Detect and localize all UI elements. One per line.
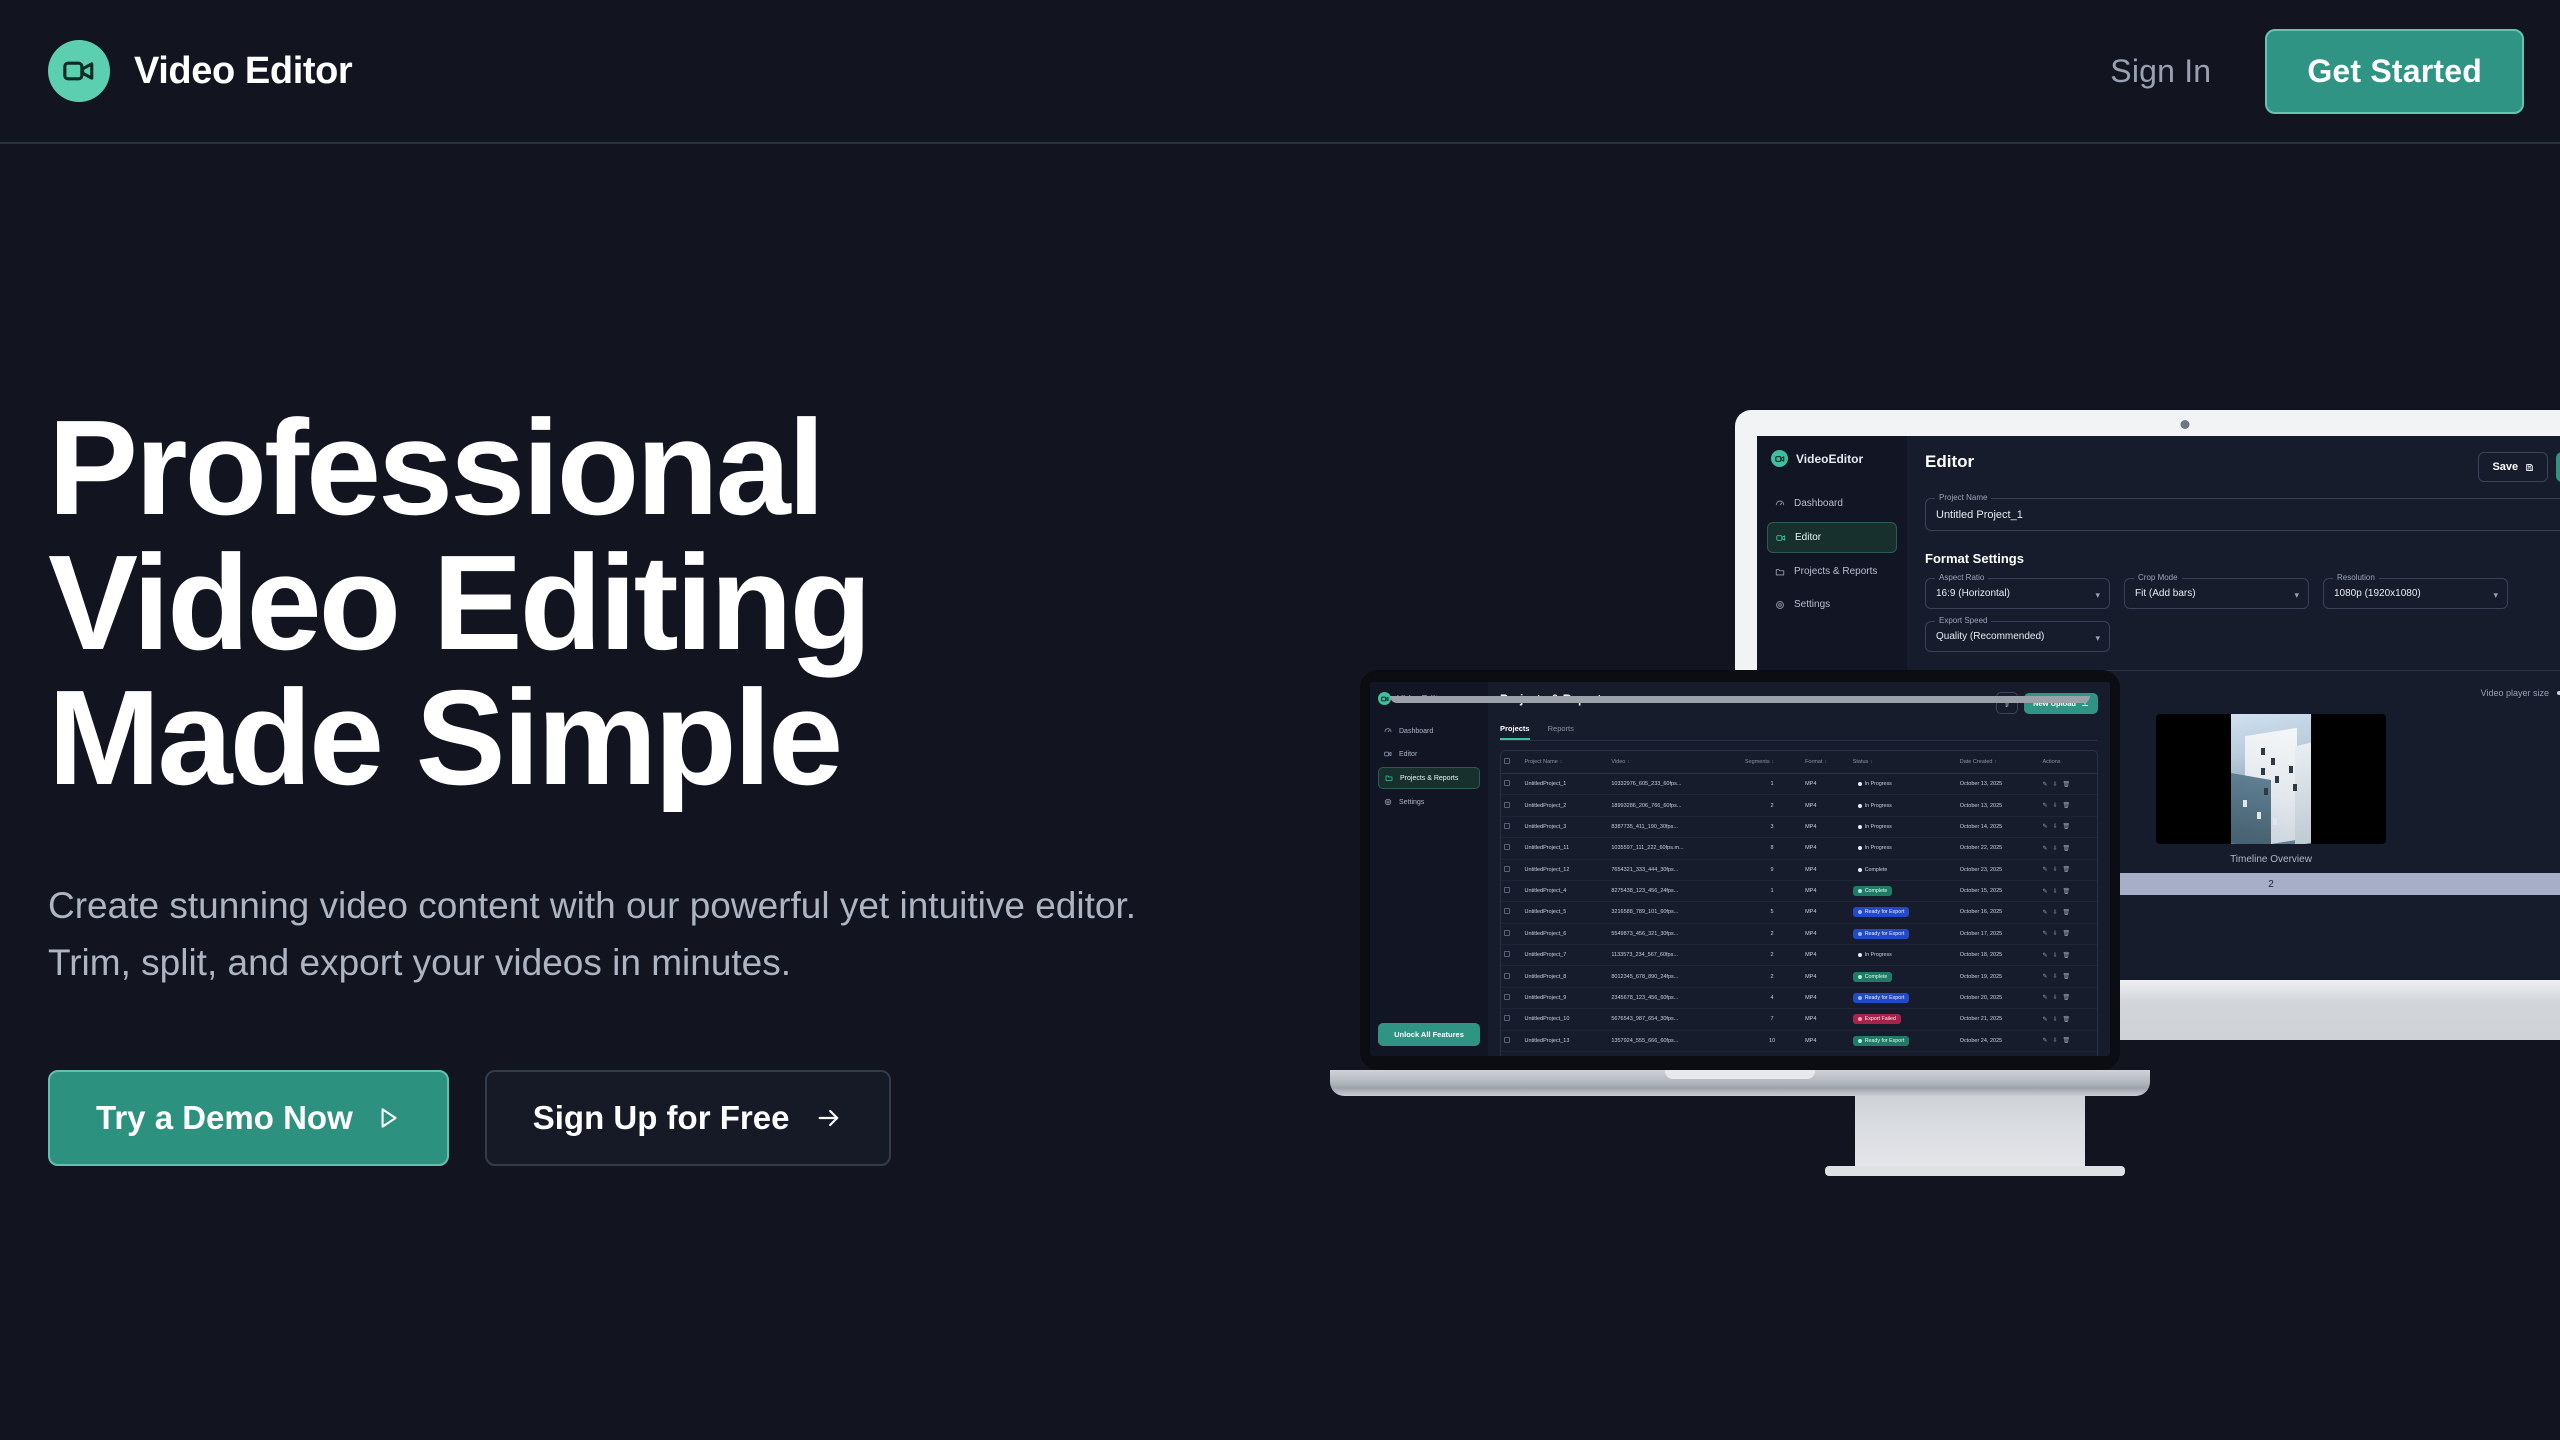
- floppy-disk-icon: [2525, 463, 2534, 472]
- row-checkbox[interactable]: [1501, 859, 1521, 880]
- cell-video: 8275438_123_456_24fps...: [1608, 880, 1742, 901]
- row-actions[interactable]: ✎⇩🗑: [2039, 880, 2097, 901]
- sidebar-item-settings[interactable]: Settings: [1767, 590, 1897, 619]
- download-icon[interactable]: ⇩: [2053, 888, 2058, 895]
- sidebar-label: Editor: [1399, 751, 1417, 758]
- col-date-created[interactable]: Date Created↕: [1957, 751, 2040, 774]
- cell-project-name: UntitledProject_2: [1521, 795, 1608, 816]
- editor-page-title: Editor: [1925, 452, 1974, 472]
- cell-video: 5676543_987_654_30fps...: [1608, 1009, 1742, 1030]
- cell-date-created: October 14, 2025: [1957, 816, 2040, 837]
- table-row[interactable]: UntitledProject_142468135_777_888_24fps.…: [1501, 1051, 2097, 1056]
- chevron-down-icon: ▾: [2493, 590, 2498, 601]
- edit-icon[interactable]: ✎: [2042, 1016, 2047, 1023]
- cell-video: 7654321_333_444_30fps...: [1608, 859, 1742, 880]
- status-badge: Ready for Export: [1850, 923, 1957, 944]
- cell-segments: 2: [1742, 795, 1802, 816]
- sidebar-item-projects-reports[interactable]: Projects & Reports: [1378, 767, 1480, 789]
- cell-video: 8012345_678_890_24fps...: [1608, 966, 1742, 987]
- download-icon[interactable]: ⇩: [2053, 973, 2058, 980]
- crop-mode-value: Fit (Add bars): [2135, 588, 2196, 599]
- row-checkbox[interactable]: [1501, 1009, 1521, 1030]
- delete-icon[interactable]: 🗑: [2063, 994, 2071, 1001]
- row-checkbox[interactable]: [1501, 923, 1521, 944]
- edit-icon[interactable]: ✎: [2042, 952, 2047, 959]
- export-button[interactable]: Export: [2556, 452, 2560, 482]
- download-icon[interactable]: ⇩: [2053, 994, 2058, 1001]
- project-name-field[interactable]: Project Name Untitled Project_1: [1925, 498, 2560, 531]
- row-checkbox[interactable]: [1501, 987, 1521, 1008]
- row-checkbox[interactable]: [1501, 1051, 1521, 1056]
- row-actions[interactable]: ✎⇩🗑: [2039, 795, 2097, 816]
- cell-format: MP4: [1802, 1009, 1850, 1030]
- format-settings-row-2: Export Speed Quality (Recommended) ▾: [1925, 621, 2560, 652]
- cell-date-created: October 18, 2025: [1957, 945, 2040, 966]
- save-label: Save: [2492, 461, 2518, 473]
- chevron-down-icon: ▾: [2095, 590, 2100, 601]
- cell-format: MP4: [1802, 838, 1850, 859]
- folder-icon: [1385, 774, 1393, 782]
- cell-date-created: October 25, 2025: [1957, 1051, 2040, 1056]
- status-badge: In Progress: [1850, 838, 1957, 859]
- row-actions[interactable]: ✎⇩🗑: [2039, 774, 2097, 795]
- video-camera-icon: [1771, 450, 1788, 467]
- cell-segments: 1: [1742, 774, 1802, 795]
- delete-icon[interactable]: 🗑: [2063, 909, 2071, 916]
- resolution-value: 1080p (1920x1080): [2334, 588, 2421, 599]
- table-row[interactable]: UntitledProject_71133573_234_567_60fps..…: [1501, 945, 2097, 966]
- cell-segments: 1: [1742, 880, 1802, 901]
- cell-project-name: UntitledProject_10: [1521, 1009, 1608, 1030]
- row-actions[interactable]: ✎⇩🗑: [2039, 816, 2097, 837]
- cell-format: MP4: [1802, 816, 1850, 837]
- col-video[interactable]: Video↕: [1608, 751, 1742, 774]
- brand-name: Video Editor: [134, 50, 352, 93]
- status-badge: In Progress: [1850, 945, 1957, 966]
- delete-icon[interactable]: 🗑: [2063, 930, 2071, 937]
- tab-projects[interactable]: Projects: [1500, 724, 1530, 740]
- row-checkbox[interactable]: [1501, 880, 1521, 901]
- sidebar-item-dashboard[interactable]: Dashboard: [1767, 489, 1897, 518]
- status-badge: Ready for Export: [1850, 987, 1957, 1008]
- folder-icon: [1775, 567, 1785, 577]
- cell-segments: 3: [1742, 816, 1802, 837]
- edit-icon[interactable]: ✎: [2042, 866, 2047, 873]
- laptop-mockup: VideoEditor Dashboard Editor: [1330, 670, 2150, 1140]
- chevron-down-icon: ▾: [2095, 633, 2100, 644]
- col-select-all[interactable]: [1501, 751, 1521, 774]
- status-badge: In Progress: [1850, 795, 1957, 816]
- resolution-label: Resolution: [2333, 573, 2379, 582]
- status-badge: Complete: [1850, 966, 1957, 987]
- row-checkbox[interactable]: [1501, 774, 1521, 795]
- cell-segments: 9: [1742, 859, 1802, 880]
- project-name-value: Untitled Project_1: [1936, 509, 2023, 521]
- edit-icon[interactable]: ✎: [2042, 781, 2047, 788]
- cell-format: MP4: [1802, 987, 1850, 1008]
- status-badge: In Progress: [1850, 816, 1957, 837]
- cell-video: 8387735_411_190_30fps...: [1608, 816, 1742, 837]
- gauge-icon: [1775, 499, 1785, 509]
- cell-video: 1035597_111_222_60fps.m...: [1608, 838, 1742, 859]
- editor-nav: Dashboard Editor Projects & Reports: [1767, 489, 1897, 619]
- save-button[interactable]: Save: [2478, 452, 2548, 482]
- cell-video: 10332976_605_233_60fps...: [1608, 774, 1742, 795]
- sidebar-label: Projects & Reports: [1400, 775, 1458, 782]
- status-badge: Complete: [1850, 859, 1957, 880]
- table-row[interactable]: UntitledProject_131357924_555_666_60fps.…: [1501, 1030, 2097, 1051]
- delete-icon[interactable]: 🗑: [2063, 866, 2071, 873]
- hero-title-line-3: Made Simple: [48, 670, 1178, 805]
- download-icon[interactable]: ⇩: [2053, 930, 2058, 937]
- gear-icon: [1384, 798, 1392, 806]
- table-row[interactable]: UntitledProject_88012345_678_890_24fps..…: [1501, 966, 2097, 987]
- crop-mode-label: Crop Mode: [2134, 573, 2182, 582]
- cell-video: 1357924_555_666_60fps...: [1608, 1030, 1742, 1051]
- cell-project-name: UntitledProject_13: [1521, 1030, 1608, 1051]
- cell-format: MP4: [1802, 1051, 1850, 1056]
- sidebar-item-editor[interactable]: Editor: [1767, 522, 1897, 553]
- projects-nav: Dashboard Editor Projects & Reports: [1378, 721, 1480, 812]
- video-player-size-label: Video player size: [2481, 688, 2549, 698]
- cell-format: MP4: [1802, 923, 1850, 944]
- delete-icon[interactable]: 🗑: [2063, 1016, 2071, 1023]
- projects-sidebar: VideoEditor Dashboard Editor: [1370, 682, 1488, 1056]
- laptop-base: [1330, 1070, 2150, 1096]
- cell-date-created: October 24, 2025: [1957, 1030, 2040, 1051]
- sidebar-label: Projects & Reports: [1794, 566, 1877, 577]
- sidebar-item-projects-reports[interactable]: Projects & Reports: [1767, 557, 1897, 586]
- header-actions: Sign In Get Started: [2110, 29, 2524, 114]
- hero-section: Professional Video Editing Made Simple C…: [48, 400, 1178, 1166]
- editor-brand-label: VideoEditor: [1796, 452, 1863, 466]
- get-started-button[interactable]: Get Started: [2265, 29, 2524, 114]
- brand[interactable]: Video Editor: [48, 40, 352, 102]
- row-actions[interactable]: ✎⇩🗑: [2039, 859, 2097, 880]
- gauge-icon: [1384, 727, 1392, 735]
- sidebar-label: Editor: [1795, 532, 1821, 543]
- cell-project-name: UntitledProject_9: [1521, 987, 1608, 1008]
- cell-format: MP4: [1802, 774, 1850, 795]
- sidebar-item-dashboard[interactable]: Dashboard: [1378, 721, 1480, 741]
- video-camera-icon: [1378, 692, 1391, 705]
- delete-icon[interactable]: 🗑: [2063, 845, 2071, 852]
- col-segments[interactable]: Segments↕: [1742, 751, 1802, 774]
- video-player-size-control[interactable]: Video player size: [2481, 688, 2560, 698]
- cell-project-name: UntitledProject_1: [1521, 774, 1608, 795]
- hero-cta-group: Try a Demo Now Sign Up for Free: [48, 1070, 1178, 1166]
- download-icon[interactable]: ⇩: [2053, 909, 2058, 916]
- col-actions: Actions: [2039, 751, 2097, 774]
- editor-header-actions: Save Export: [2478, 452, 2560, 482]
- cell-project-name: UntitledProject_11: [1521, 838, 1608, 859]
- cell-segments: 5: [1742, 902, 1802, 923]
- projects-app: VideoEditor Dashboard Editor: [1370, 682, 2110, 1056]
- cell-format: MP4: [1802, 859, 1850, 880]
- row-checkbox[interactable]: [1501, 1030, 1521, 1051]
- status-badge: Complete: [1850, 880, 1957, 901]
- col-status[interactable]: Status↕: [1850, 751, 1957, 774]
- sidebar-label: Settings: [1794, 599, 1830, 610]
- delete-icon[interactable]: 🗑: [2063, 952, 2071, 959]
- laptop-lid: VideoEditor Dashboard Editor: [1360, 670, 2120, 1070]
- download-icon[interactable]: ⇩: [2053, 1037, 2058, 1044]
- cell-project-name: UntitledProject_8: [1521, 966, 1608, 987]
- hero-title-line-1: Professional: [48, 400, 1178, 535]
- product-mockup-scene: VideoEditor Dashboard Editor: [1330, 380, 2560, 1200]
- cell-segments: 11: [1742, 1051, 1802, 1056]
- delete-icon[interactable]: 🗑: [2063, 1037, 2071, 1044]
- cell-date-created: October 22, 2025: [1957, 838, 2040, 859]
- cell-project-name: UntitledProject_14: [1521, 1051, 1608, 1056]
- laptop-notch: [1685, 673, 1795, 682]
- projects-tabs: Projects Reports: [1500, 724, 2098, 741]
- status-badge: In Progress: [1850, 774, 1957, 795]
- col-format[interactable]: Format↕: [1802, 751, 1850, 774]
- table-row[interactable]: UntitledProject_38387735_411_190_30fps..…: [1501, 816, 2097, 837]
- cell-format: MP4: [1802, 902, 1850, 923]
- aspect-ratio-select[interactable]: Aspect Ratio 16:9 (Horizontal) ▾: [1925, 578, 2110, 609]
- edit-icon[interactable]: ✎: [2042, 802, 2047, 809]
- hero-subtitle: Create stunning video content with our p…: [48, 877, 1138, 992]
- cell-date-created: October 19, 2025: [1957, 966, 2040, 987]
- table-row[interactable]: UntitledProject_65549873_456_321_30fps..…: [1501, 923, 2097, 944]
- video-camera-icon: [48, 40, 110, 102]
- unlock-all-features-button[interactable]: Unlock All Features: [1378, 1023, 1480, 1046]
- delete-icon[interactable]: 🗑: [2063, 973, 2071, 980]
- row-actions[interactable]: ✎⇩🗑: [2039, 987, 2097, 1008]
- editor-brand: VideoEditor: [1767, 450, 1897, 467]
- edit-icon[interactable]: ✎: [2042, 909, 2047, 916]
- download-icon[interactable]: ⇩: [2053, 952, 2058, 959]
- play-triangle-icon: [375, 1105, 401, 1131]
- sidebar-label: Dashboard: [1794, 498, 1843, 509]
- laptop-foot: [1390, 696, 2090, 703]
- row-actions[interactable]: ✎⇩🗑: [2039, 966, 2097, 987]
- cell-video: 1133573_234_567_60fps...: [1608, 945, 1742, 966]
- landing-page: Video Editor Sign In Get Started Profess…: [0, 0, 2560, 1440]
- sign-in-link[interactable]: Sign In: [2110, 53, 2211, 90]
- edit-icon[interactable]: ✎: [2042, 845, 2047, 852]
- video-camera-icon: [1776, 533, 1786, 543]
- col-project-name[interactable]: Project Name↕: [1521, 751, 1608, 774]
- row-checkbox[interactable]: [1501, 838, 1521, 859]
- download-icon[interactable]: ⇩: [2053, 823, 2058, 830]
- cell-segments: 2: [1742, 923, 1802, 944]
- row-actions[interactable]: ✎⇩🗑: [2039, 838, 2097, 859]
- editor-header: Editor Save Export: [1925, 452, 2560, 482]
- cell-segments: 8: [1742, 838, 1802, 859]
- status-badge: Export Failed: [1850, 1009, 1957, 1030]
- row-actions[interactable]: ✎⇩🗑: [2039, 1009, 2097, 1030]
- aspect-ratio-value: 16:9 (Horizontal): [1936, 588, 2010, 599]
- crop-mode-select[interactable]: Crop Mode Fit (Add bars) ▾: [2124, 578, 2309, 609]
- edit-icon[interactable]: ✎: [2042, 1037, 2047, 1044]
- delete-icon[interactable]: 🗑: [2063, 823, 2071, 830]
- cell-format: MP4: [1802, 795, 1850, 816]
- cell-project-name: UntitledProject_6: [1521, 923, 1608, 944]
- delete-icon[interactable]: 🗑: [2063, 802, 2071, 809]
- cell-project-name: UntitledProject_12: [1521, 859, 1608, 880]
- row-checkbox[interactable]: [1501, 966, 1521, 987]
- cell-date-created: October 13, 2025: [1957, 774, 2040, 795]
- cell-video: 18993286_206_766_60fps...: [1608, 795, 1742, 816]
- cell-project-name: UntitledProject_3: [1521, 816, 1608, 837]
- cell-format: MP4: [1802, 1030, 1850, 1051]
- laptop-trackpad-notch: [1665, 1070, 1815, 1079]
- page-title: Professional Video Editing Made Simple: [48, 400, 1178, 805]
- row-actions[interactable]: ✎⇩🗑: [2039, 923, 2097, 944]
- aspect-ratio-label: Aspect Ratio: [1935, 573, 1988, 582]
- edit-icon[interactable]: ✎: [2042, 823, 2047, 830]
- cell-project-name: UntitledProject_4: [1521, 880, 1608, 901]
- download-icon[interactable]: ⇩: [2053, 866, 2058, 873]
- cell-video: 2345678_123_456_60fps...: [1608, 987, 1742, 1008]
- video-camera-icon: [1384, 750, 1392, 758]
- row-actions[interactable]: ✎⇩🗑: [2039, 1051, 2097, 1056]
- cell-video: 5549873_456_321_30fps...: [1608, 923, 1742, 944]
- table-body: UntitledProject_110332976_605_233_60fps.…: [1501, 774, 2097, 1057]
- export-speed-select[interactable]: Export Speed Quality (Recommended) ▾: [1925, 621, 2110, 652]
- download-icon[interactable]: ⇩: [2053, 1016, 2058, 1023]
- monitor-foot: [1825, 1166, 2125, 1176]
- try-demo-label: Try a Demo Now: [96, 1099, 353, 1137]
- row-checkbox[interactable]: [1501, 816, 1521, 837]
- table-row[interactable]: UntitledProject_105676543_987_654_30fps.…: [1501, 1009, 2097, 1030]
- cell-segments: 10: [1742, 1030, 1802, 1051]
- video-frame-image: [2231, 714, 2311, 844]
- project-name-label: Project Name: [1935, 493, 1991, 502]
- sidebar-item-editor[interactable]: Editor: [1378, 744, 1480, 764]
- cell-date-created: October 23, 2025: [1957, 859, 2040, 880]
- cell-segments: 2: [1742, 966, 1802, 987]
- site-header: Video Editor Sign In Get Started: [0, 0, 2560, 144]
- delete-icon[interactable]: 🗑: [2063, 781, 2071, 788]
- sign-up-button[interactable]: Sign Up for Free: [485, 1070, 892, 1166]
- table-row[interactable]: UntitledProject_110332976_605_233_60fps.…: [1501, 774, 2097, 795]
- cell-date-created: October 13, 2025: [1957, 795, 2040, 816]
- table-row[interactable]: UntitledProject_111035597_111_222_60fps.…: [1501, 838, 2097, 859]
- export-speed-value: Quality (Recommended): [1936, 631, 2044, 642]
- tab-reports[interactable]: Reports: [1548, 724, 1574, 740]
- arrow-right-icon: [815, 1104, 843, 1132]
- table-row[interactable]: UntitledProject_53216588_789_101_60fps..…: [1501, 902, 2097, 923]
- format-settings-title: Format Settings: [1925, 551, 2560, 566]
- projects-main: Projects & Reports New Upload: [1488, 682, 2110, 1056]
- cell-date-created: October 17, 2025: [1957, 923, 2040, 944]
- try-demo-button[interactable]: Try a Demo Now: [48, 1070, 449, 1166]
- cell-date-created: October 15, 2025: [1957, 880, 2040, 901]
- table-header-row: Project Name↕ Video↕ Segments↕ Format↕ S…: [1501, 751, 2097, 774]
- row-checkbox[interactable]: [1501, 945, 1521, 966]
- status-badge: In Progress: [1850, 1051, 1957, 1056]
- cell-format: MP4: [1802, 880, 1850, 901]
- edit-icon[interactable]: ✎: [2042, 994, 2047, 1001]
- row-actions[interactable]: ✎⇩🗑: [2039, 945, 2097, 966]
- delete-icon[interactable]: 🗑: [2063, 888, 2071, 895]
- edit-icon[interactable]: ✎: [2042, 888, 2047, 895]
- sign-up-label: Sign Up for Free: [533, 1099, 790, 1137]
- video-player[interactable]: [2156, 714, 2386, 844]
- status-badge: Ready for Export: [1850, 1030, 1957, 1051]
- cell-segments: 4: [1742, 987, 1802, 1008]
- chevron-down-icon: ▾: [2294, 590, 2299, 601]
- row-checkbox[interactable]: [1501, 795, 1521, 816]
- cell-format: MP4: [1802, 966, 1850, 987]
- table-row[interactable]: UntitledProject_48275438_123_456_24fps..…: [1501, 880, 2097, 901]
- sidebar-item-settings[interactable]: Settings: [1378, 792, 1480, 812]
- cell-segments: 2: [1742, 945, 1802, 966]
- format-settings-row-1: Aspect Ratio 16:9 (Horizontal) ▾ Crop Mo…: [1925, 578, 2560, 609]
- cell-video: 2468135_777_888_24fps...: [1608, 1051, 1742, 1056]
- cell-format: MP4: [1802, 945, 1850, 966]
- download-icon[interactable]: ⇩: [2053, 845, 2058, 852]
- cell-segments: 7: [1742, 1009, 1802, 1030]
- export-speed-label: Export Speed: [1935, 616, 1991, 625]
- download-icon[interactable]: ⇩: [2053, 781, 2058, 788]
- table-row[interactable]: UntitledProject_127654321_333_444_30fps.…: [1501, 859, 2097, 880]
- cell-date-created: October 21, 2025: [1957, 1009, 2040, 1030]
- projects-table: Project Name↕ Video↕ Segments↕ Format↕ S…: [1500, 750, 2098, 1056]
- cell-project-name: UntitledProject_7: [1521, 945, 1608, 966]
- cell-project-name: UntitledProject_5: [1521, 902, 1608, 923]
- table-row[interactable]: UntitledProject_218993286_206_766_60fps.…: [1501, 795, 2097, 816]
- edit-icon[interactable]: ✎: [2042, 973, 2047, 980]
- resolution-select[interactable]: Resolution 1080p (1920x1080) ▾: [2323, 578, 2508, 609]
- webcam-icon: [2181, 420, 2190, 429]
- cell-date-created: October 16, 2025: [1957, 902, 2040, 923]
- edit-icon[interactable]: ✎: [2042, 930, 2047, 937]
- cell-date-created: October 20, 2025: [1957, 987, 2040, 1008]
- gear-icon: [1775, 600, 1785, 610]
- laptop-screen: VideoEditor Dashboard Editor: [1370, 682, 2110, 1056]
- row-actions[interactable]: ✎⇩🗑: [2039, 1030, 2097, 1051]
- row-actions[interactable]: ✎⇩🗑: [2039, 902, 2097, 923]
- table-row[interactable]: UntitledProject_92345678_123_456_60fps..…: [1501, 987, 2097, 1008]
- hero-title-line-2: Video Editing: [48, 535, 1178, 670]
- status-badge: Ready for Export: [1850, 902, 1957, 923]
- download-icon[interactable]: ⇩: [2053, 802, 2058, 809]
- cell-video: 3216588_789_101_60fps...: [1608, 902, 1742, 923]
- row-checkbox[interactable]: [1501, 902, 1521, 923]
- sidebar-label: Settings: [1399, 799, 1424, 806]
- sidebar-label: Dashboard: [1399, 728, 1433, 735]
